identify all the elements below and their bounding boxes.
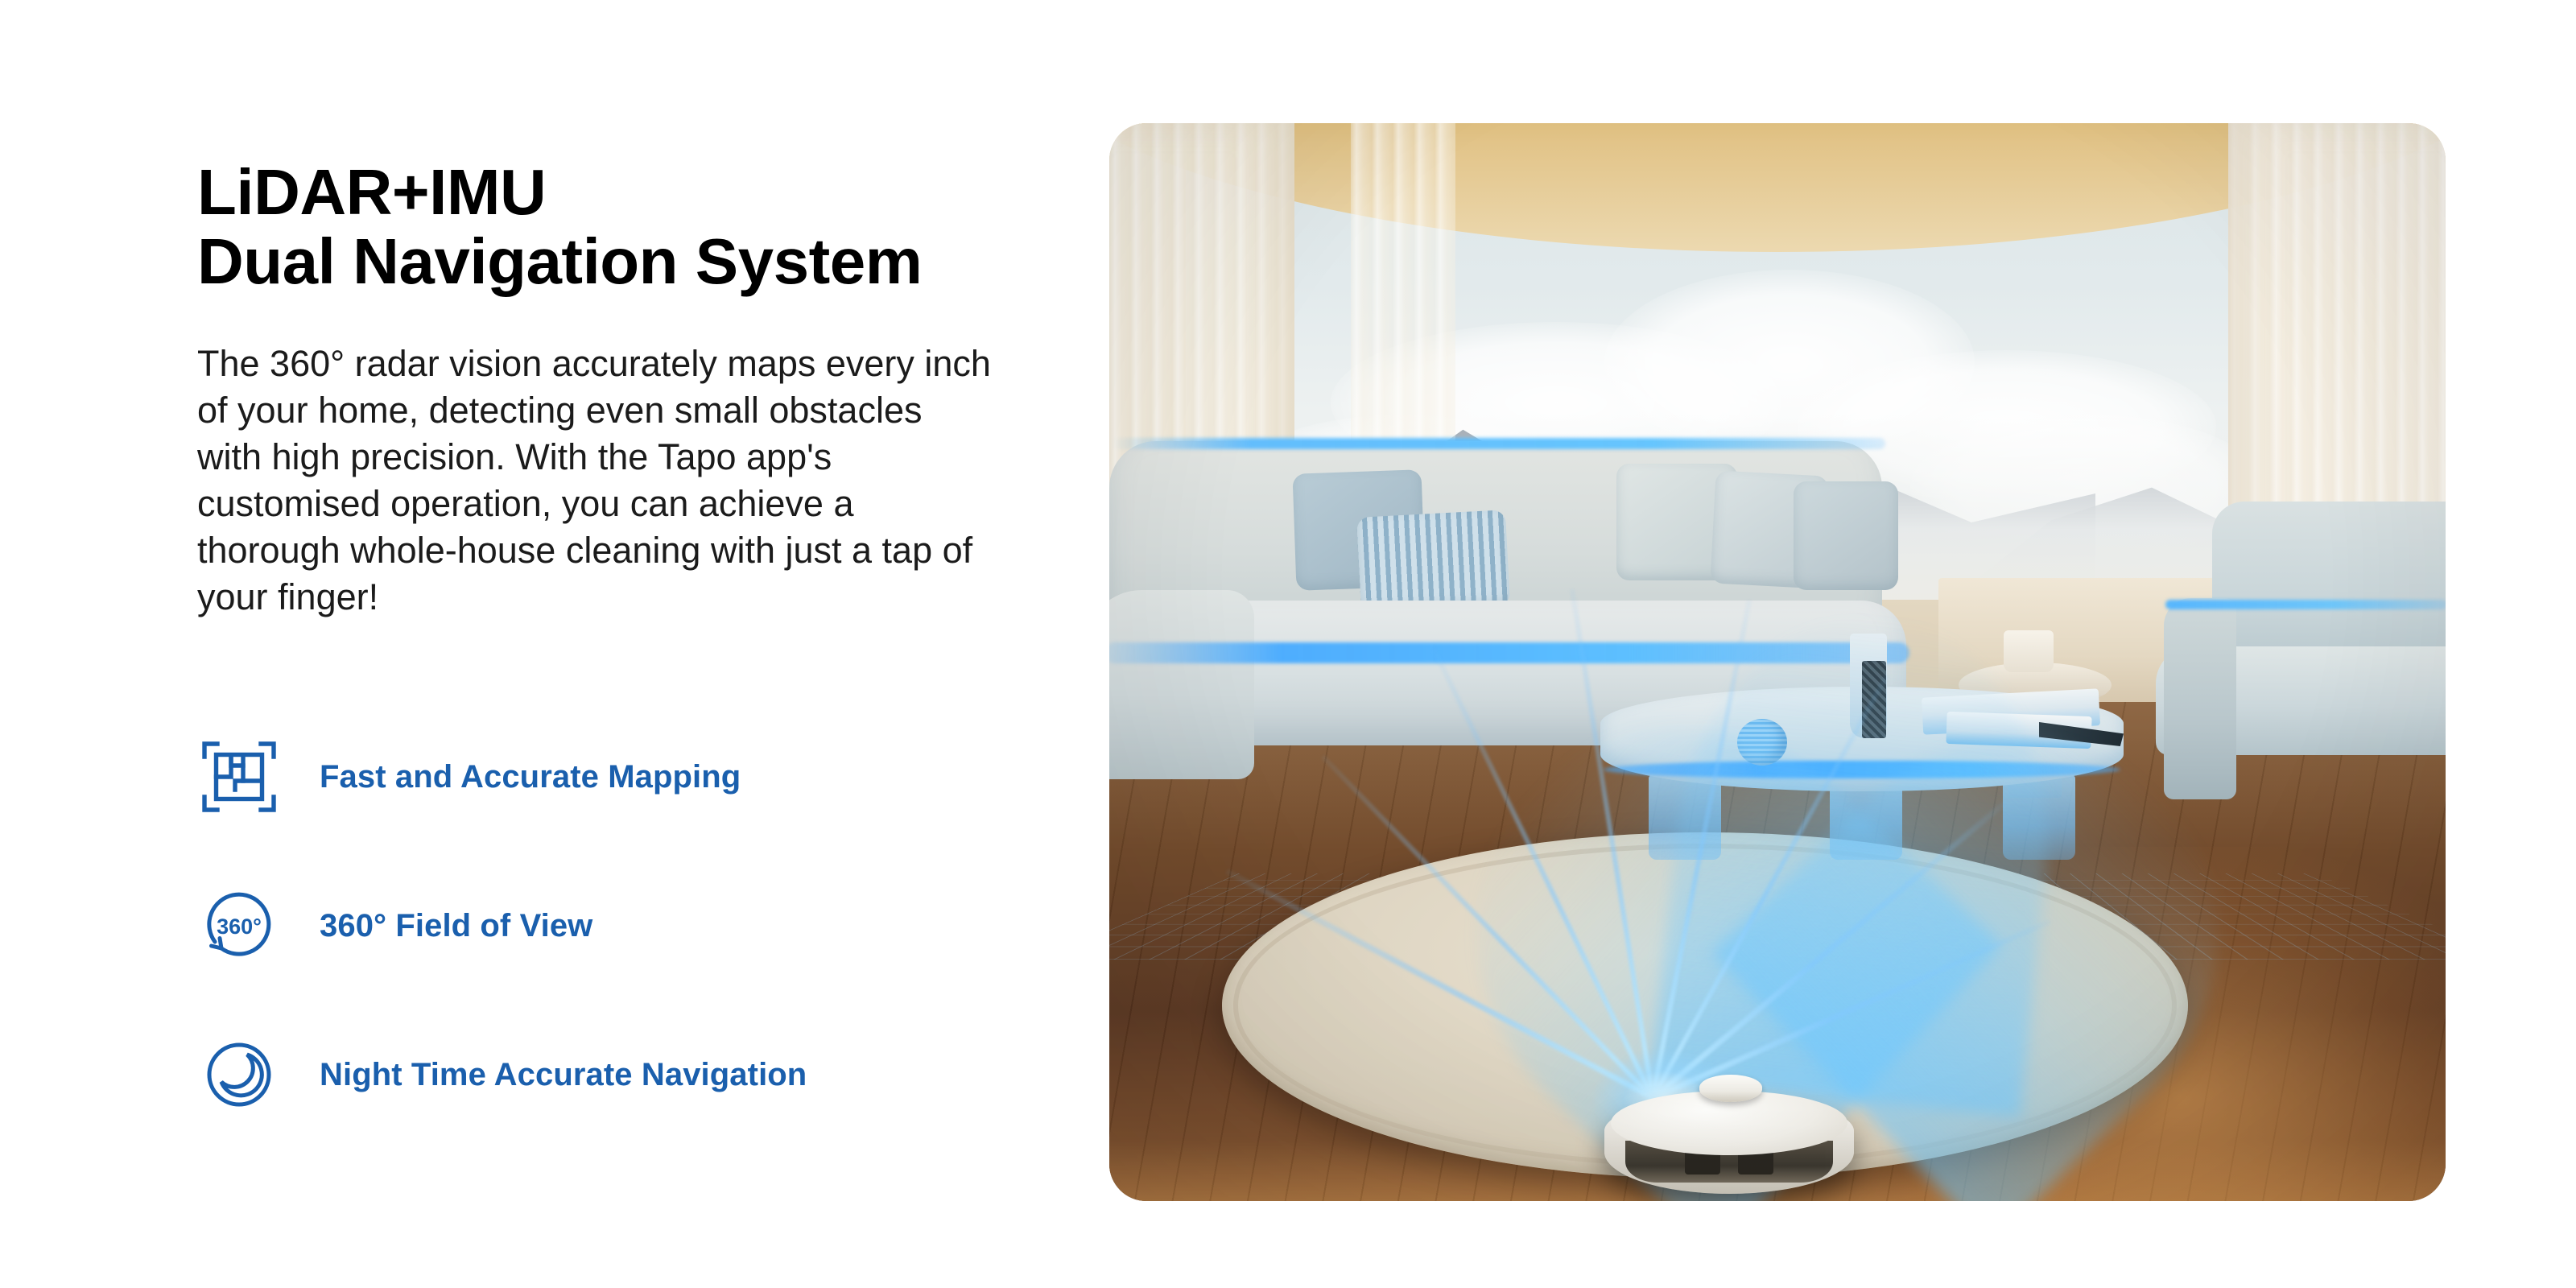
armchair-arm [2164, 598, 2236, 799]
body-copy: The 360° radar vision accurately maps ev… [197, 341, 994, 621]
page-title: LiDAR+IMU Dual Navigation System [197, 158, 1018, 297]
headline-line-1: LiDAR+IMU [197, 156, 546, 228]
floor-plan-scan-icon [197, 733, 294, 821]
feature-list: Fast and Accurate Mapping 360° 360° Fiel… [197, 729, 1042, 1123]
sofa-scan-highlight-top [1113, 438, 1885, 449]
decor-cup [2004, 630, 2054, 672]
lidar-turret [1699, 1075, 1762, 1102]
sofa-arm [1109, 590, 1254, 779]
text-column: LiDAR+IMU Dual Navigation System The 360… [197, 158, 1018, 621]
armchair-scan-highlight [2165, 600, 2446, 609]
robot-vacuum [1604, 1075, 1854, 1199]
feature-label-field-of-view: 360° Field of View [320, 908, 592, 944]
feature-label-mapping: Fast and Accurate Mapping [320, 759, 741, 795]
lidar-navigation-feature-page: LiDAR+IMU Dual Navigation System The 360… [0, 0, 2576, 1288]
headline-line-2: Dual Navigation System [197, 225, 922, 297]
feature-item-night-navigation: Night Time Accurate Navigation [197, 1026, 1042, 1123]
360-degree-rotation-icon: 360° [197, 881, 294, 970]
striped-accent-pillow [1356, 510, 1510, 614]
feature-item-mapping: Fast and Accurate Mapping [197, 729, 1042, 825]
accent-pillow [1794, 481, 1898, 590]
crescent-moon-night-icon [197, 1030, 294, 1119]
armchair [2140, 502, 2446, 824]
living-room-scene [1109, 123, 2446, 1201]
feature-label-night-navigation: Night Time Accurate Navigation [320, 1057, 807, 1093]
360-icon-text: 360° [217, 914, 262, 939]
feature-item-field-of-view: 360° 360° Field of View [197, 877, 1042, 974]
product-scene-image [1109, 123, 2446, 1201]
